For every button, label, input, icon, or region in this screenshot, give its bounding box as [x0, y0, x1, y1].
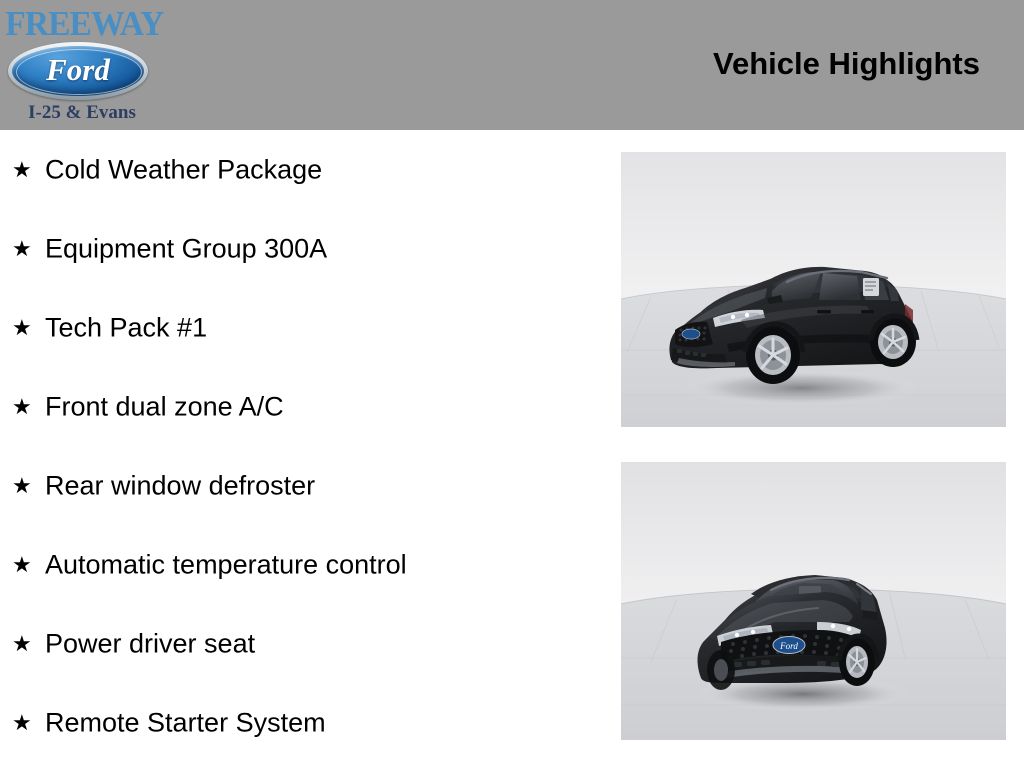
list-item: ★ Remote Starter System: [0, 683, 600, 762]
list-item: ★ Automatic temperature control: [0, 525, 600, 604]
vehicle-photo-front-image: Ford: [621, 462, 1006, 740]
list-item: ★ Tech Pack #1: [0, 288, 600, 367]
list-item-label: Power driver seat: [45, 628, 255, 659]
list-item: ★ Rear window defroster: [0, 446, 600, 525]
star-bullet-icon: ★: [12, 633, 32, 655]
list-item-label: Automatic temperature control: [45, 549, 407, 580]
list-item-label: Cold Weather Package: [45, 154, 322, 185]
ford-oval-wordmark: Ford: [8, 42, 148, 100]
list-item-label: Front dual zone A/C: [45, 391, 284, 422]
star-bullet-icon: ★: [12, 396, 32, 418]
star-bullet-icon: ★: [12, 317, 32, 339]
logo-location-text: I-25 & Evans: [2, 102, 162, 124]
page-title: Vehicle Highlights: [713, 46, 980, 82]
dealer-logo: FREEWAY Ford I-25 & Evans: [2, 2, 162, 128]
vehicle-photo-front-three-quarter: [621, 152, 1006, 427]
star-bullet-icon: ★: [12, 238, 32, 260]
list-item: ★ Power driver seat: [0, 604, 600, 683]
logo-freeway-text: FREEWAY: [5, 5, 159, 43]
star-bullet-icon: ★: [12, 475, 32, 497]
vehicle-photo-front-three-quarter-image: [621, 152, 1006, 427]
star-bullet-icon: ★: [12, 712, 32, 734]
list-item-label: Tech Pack #1: [45, 312, 207, 343]
ford-oval-logo-icon: Ford: [8, 42, 148, 100]
vehicle-highlights-list: ★ Cold Weather Package ★ Equipment Group…: [0, 130, 600, 762]
list-item-label: Rear window defroster: [45, 470, 315, 501]
star-bullet-icon: ★: [12, 554, 32, 576]
list-item-label: Remote Starter System: [45, 707, 326, 738]
list-item-label: Equipment Group 300A: [45, 233, 327, 264]
vehicle-photo-front: Ford: [621, 462, 1006, 740]
list-item: ★ Cold Weather Package: [0, 130, 600, 209]
star-bullet-icon: ★: [12, 159, 32, 181]
list-item: ★ Front dual zone A/C: [0, 367, 600, 446]
svg-text:Ford: Ford: [779, 641, 798, 651]
list-item: ★ Equipment Group 300A: [0, 209, 600, 288]
